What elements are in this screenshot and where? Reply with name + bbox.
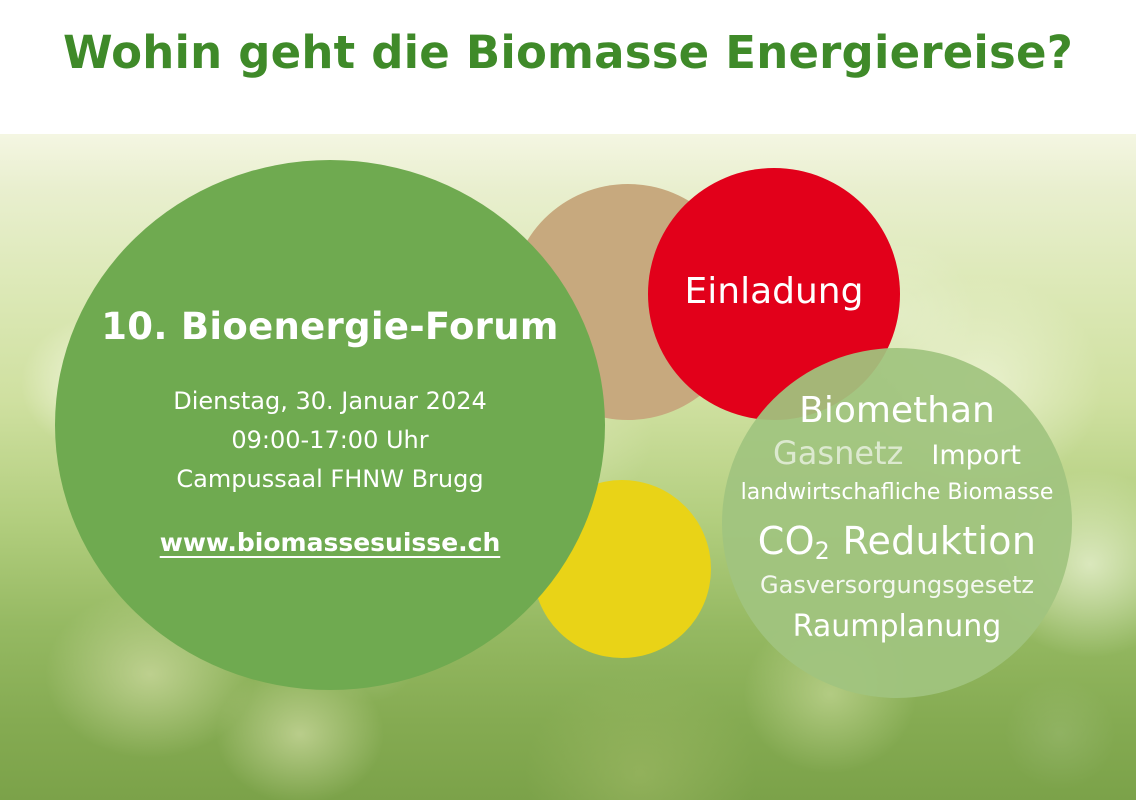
keyword-raumplanung: Raumplanung xyxy=(793,609,1002,644)
keyword-co2-prefix: CO xyxy=(758,519,815,563)
keyword-landwirtschafliche-biomasse: landwirtschafliche Biomasse xyxy=(741,480,1054,505)
poster-canvas: Wohin geht die Biomasse Energiereise? 10… xyxy=(0,0,1136,800)
keyword-import: Import xyxy=(931,440,1021,471)
event-details: Dienstag, 30. Januar 2024 09:00-17:00 Uh… xyxy=(55,382,605,499)
invitation-label: Einladung xyxy=(648,271,900,312)
keyword-gasnetz: Gasnetz xyxy=(773,434,903,472)
keyword-co2-reduktion: CO2 Reduktion xyxy=(758,519,1036,563)
event-website-link[interactable]: www.biomassesuisse.ch xyxy=(55,528,605,557)
keyword-biomethan: Biomethan xyxy=(799,392,995,430)
main-circle-content: 10. Bioenergie-Forum Dienstag, 30. Janua… xyxy=(55,160,605,690)
keyword-co2-suffix: Reduktion xyxy=(830,519,1036,563)
keyword-co2-subscript: 2 xyxy=(815,537,830,565)
keyword-gasversorgungsgesetz: Gasversorgungsgesetz xyxy=(760,571,1034,599)
page-title: Wohin geht die Biomasse Energiereise? xyxy=(0,26,1136,79)
keyword-row-gasnetz-import: Gasnetz Import xyxy=(773,434,1021,472)
keyword-cloud: Biomethan Gasnetz Import landwirtschafli… xyxy=(712,348,1082,698)
header-band: Wohin geht die Biomasse Energiereise? xyxy=(0,0,1136,134)
event-date: Dienstag, 30. Januar 2024 xyxy=(55,382,605,421)
event-venue: Campussaal FHNW Brugg xyxy=(55,460,605,499)
event-title: 10. Bioenergie-Forum xyxy=(55,305,605,348)
event-time: 09:00-17:00 Uhr xyxy=(55,421,605,460)
